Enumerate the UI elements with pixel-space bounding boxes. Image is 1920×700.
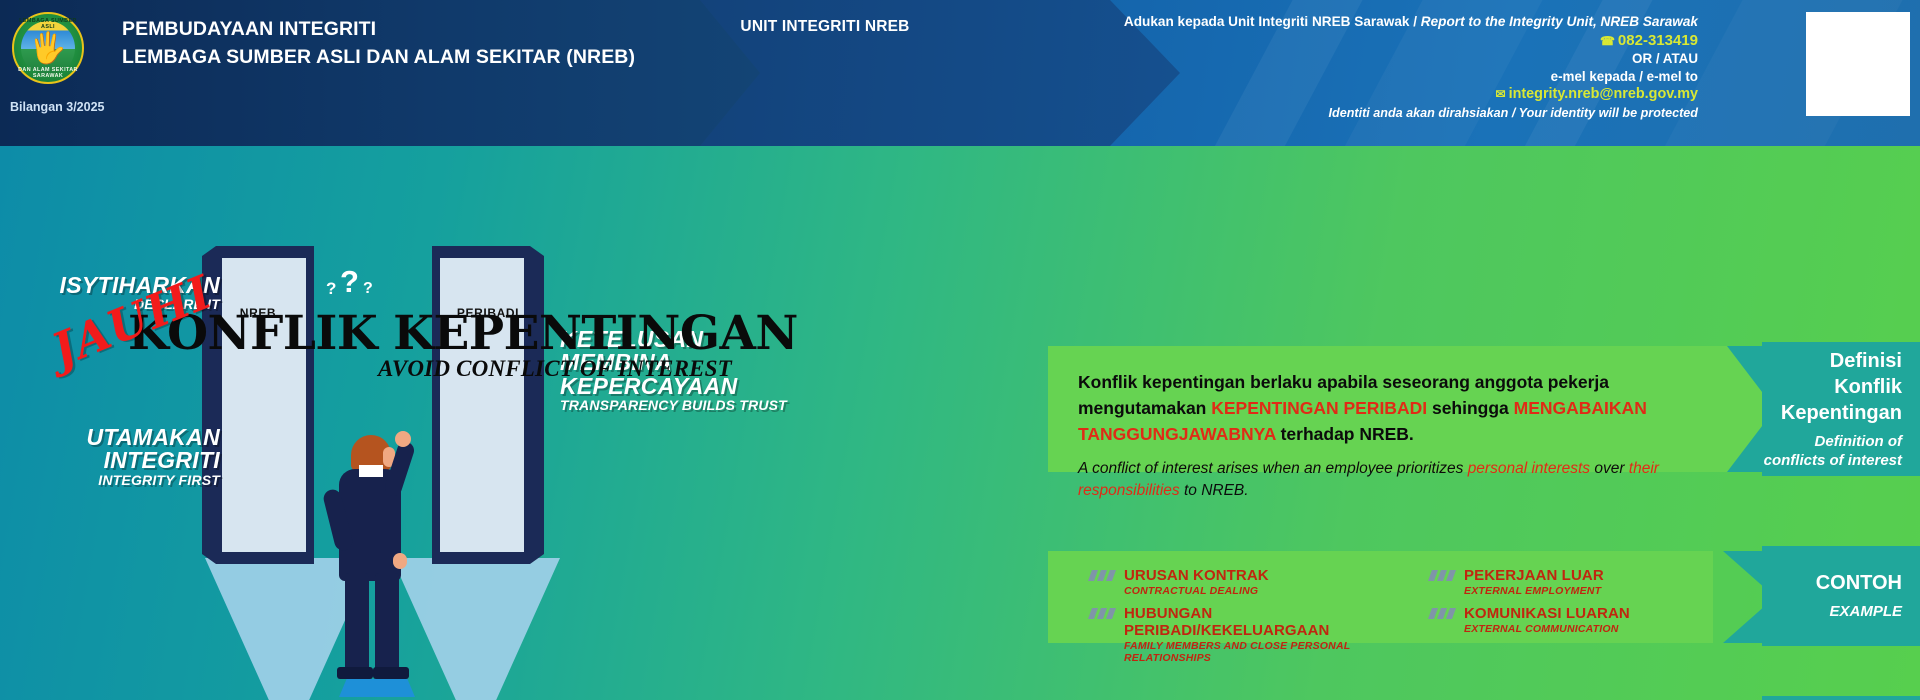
tab-example-en: EXAMPLE: [1829, 602, 1902, 621]
example-ms: PEKERJAAN LUAR: [1464, 567, 1710, 584]
definition-text-ms: Konflik kepentingan berlaku apabila sese…: [1078, 370, 1683, 448]
page-header: LEMBAGA SUMBER ASLI 🖐 DAN ALAM SEKITAR S…: [0, 0, 1920, 146]
email-label: e-mel kepada / e-mel to: [998, 69, 1698, 84]
example-en: FAMILY MEMBERS AND CLOSE PERSONAL RELATI…: [1124, 640, 1420, 664]
report-en: Report to the Integrity Unit, NREB Saraw…: [1421, 14, 1698, 29]
logo-bottom-text: DAN ALAM SEKITAR SARAWAK: [12, 67, 84, 79]
panel-definition: Konflik kepentingan berlaku apabila sese…: [1048, 346, 1713, 472]
tab-example[interactable]: CONTOH EXAMPLE: [1762, 546, 1920, 646]
chevron-marker-icon: [1090, 608, 1118, 619]
question-mark-small-left: ?: [326, 279, 336, 299]
privacy-note: Identiti anda akan dirahsiakan / Your id…: [998, 106, 1698, 120]
example-item: URUSAN KONTRAK CONTRACTUAL DEALING: [1090, 567, 1420, 597]
mail-icon: ✉: [1496, 87, 1506, 101]
example-en: CONTRACTUAL DEALING: [1124, 585, 1420, 597]
tab-example-ms: CONTOH: [1816, 570, 1902, 596]
logo-top-text: LEMBAGA SUMBER ASLI: [12, 18, 84, 30]
tag-transparency-en: TRANSPARENCY BUILDS TRUST: [560, 398, 800, 413]
examples-column-left: URUSAN KONTRAK CONTRACTUAL DEALING HUBUN…: [1090, 567, 1420, 672]
illustration: NREB PERIBADI ? ? ?: [0, 146, 850, 700]
org-line-1: PEMBUDAYAAN INTEGRITI: [122, 16, 635, 44]
example-ms: KOMUNIKASI LUARAN: [1464, 605, 1710, 622]
qr-code[interactable]: [1806, 12, 1910, 116]
org-line-2: LEMBAGA SUMBER ASLI DAN ALAM SEKITAR (NR…: [122, 44, 635, 72]
example-ms: HUBUNGAN PERIBADI/KEKELUARGAAN: [1124, 605, 1420, 639]
phone-icon: ☎: [1600, 34, 1615, 48]
issue-number: Bilangan 3/2025: [10, 100, 105, 114]
tab-definition[interactable]: Definisi Konflik Kepentingan Definition …: [1762, 342, 1920, 476]
tag-integrity-first: UTAMAKAN INTEGRITI INTEGRITY FIRST: [10, 426, 220, 488]
tag-integrity-en: INTEGRITY FIRST: [10, 473, 220, 488]
or-label: OR / ATAU: [998, 51, 1698, 66]
body-text: to NREB.: [1180, 482, 1249, 499]
body-text: terhadap NREB.: [1276, 424, 1414, 444]
question-mark-small-right: ?: [363, 280, 373, 298]
email-address: integrity.nreb@nreb.gov.my: [1509, 86, 1698, 102]
examples-column-right: PEKERJAAN LUAR EXTERNAL EMPLOYMENT KOMUN…: [1430, 567, 1710, 643]
organisation-title: PEMBUDAYAAN INTEGRITI LEMBAGA SUMBER ASL…: [122, 16, 635, 71]
chevron-marker-icon: [1090, 570, 1118, 581]
tab-action[interactable]: Tindakan Action step: [1762, 696, 1920, 700]
question-mark-large: ?: [340, 264, 359, 300]
report-line: Adukan kepada Unit Integriti NREB Sarawa…: [998, 14, 1698, 29]
phone-number: 082-313419: [1618, 32, 1698, 49]
highlight-text: KEPENTINGAN PERIBADI: [1211, 398, 1427, 418]
definition-text-en: A conflict of interest arises when an em…: [1078, 458, 1683, 503]
chevron-marker-icon: [1430, 608, 1458, 619]
panel-examples: URUSAN KONTRAK CONTRACTUAL DEALING HUBUN…: [1048, 551, 1713, 643]
person-illustration: [333, 431, 429, 699]
example-item: HUBUNGAN PERIBADI/KEKELUARGAAN FAMILY ME…: [1090, 605, 1420, 664]
example-item: KOMUNIKASI LUARAN EXTERNAL COMMUNICATION: [1430, 605, 1710, 635]
body-text: sehingga: [1427, 398, 1514, 418]
report-ms: Adukan kepada Unit Integriti NREB Sarawa…: [1124, 14, 1410, 29]
body-text: A conflict of interest arises when an em…: [1078, 460, 1468, 477]
chevron-marker-icon: [1430, 570, 1458, 581]
email-line[interactable]: ✉integrity.nreb@nreb.gov.my: [998, 86, 1698, 102]
example-en: EXTERNAL COMMUNICATION: [1464, 623, 1710, 635]
tab-definition-ms: Definisi Konflik Kepentingan: [1762, 348, 1902, 426]
door-peribadi[interactable]: PERIBADI: [432, 246, 544, 564]
hero-title: KONFLIK KEPENTINGAN: [128, 306, 798, 361]
nreb-logo: LEMBAGA SUMBER ASLI 🖐 DAN ALAM SEKITAR S…: [12, 12, 84, 84]
body-text: over: [1590, 460, 1629, 477]
phone-line[interactable]: ☎082-313419: [998, 32, 1698, 49]
tab-definition-en: Definition of conflicts of interest: [1762, 432, 1902, 470]
highlight-text: personal interests: [1468, 460, 1590, 477]
example-item: PEKERJAAN LUAR EXTERNAL EMPLOYMENT: [1430, 567, 1710, 597]
contact-block: Adukan kepada Unit Integriti NREB Sarawa…: [998, 14, 1698, 120]
tag-integrity-ms: UTAMAKAN INTEGRITI: [10, 426, 220, 473]
qr-code-image: [1811, 17, 1905, 111]
poster-body: NREB PERIBADI ? ? ?: [0, 146, 1920, 700]
report-separator: /: [1413, 14, 1417, 29]
example-en: EXTERNAL EMPLOYMENT: [1464, 585, 1710, 597]
unit-title: UNIT INTEGRITI NREB: [700, 18, 950, 36]
example-ms: URUSAN KONTRAK: [1124, 567, 1420, 584]
hand-leaf-icon: 🖐: [29, 34, 66, 64]
